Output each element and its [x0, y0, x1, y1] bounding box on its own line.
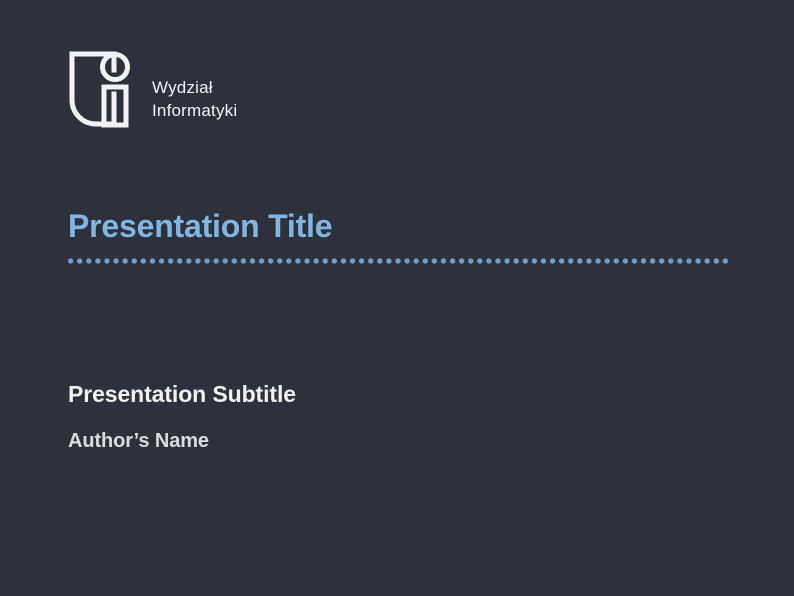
- logo-block: Wydział Informatyki: [68, 50, 237, 132]
- logo-wordmark-line-2: Informatyki: [152, 99, 237, 122]
- presentation-title-slide: Wydział Informatyki Presentation Title P…: [0, 0, 794, 596]
- dotted-divider: [68, 258, 731, 264]
- presentation-title: Presentation Title: [68, 206, 332, 246]
- author-name: Author’s Name: [68, 428, 209, 455]
- presentation-subtitle: Presentation Subtitle: [68, 379, 296, 409]
- logo-wordmark: Wydział Informatyki: [152, 76, 237, 122]
- faculty-informatics-logo-icon: [68, 50, 136, 132]
- logo-wordmark-line-1: Wydział: [152, 76, 237, 99]
